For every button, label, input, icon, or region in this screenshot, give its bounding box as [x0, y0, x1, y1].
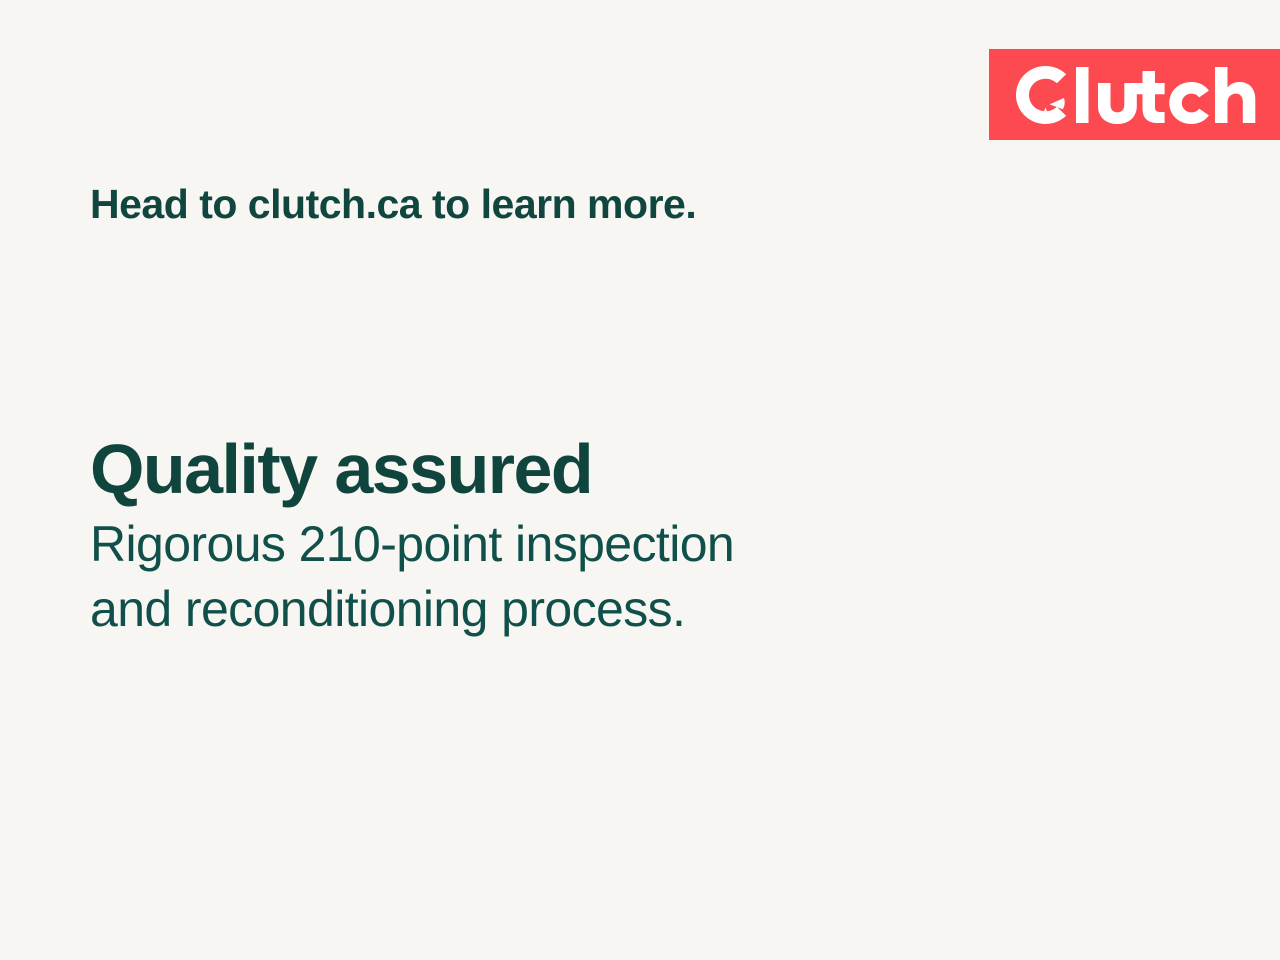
clutch-c-mark-icon [1016, 66, 1066, 124]
subhead-line-1: Rigorous 210-point inspection [90, 512, 1050, 577]
subhead-line-2: and reconditioning process. [90, 577, 1050, 642]
brand-banner: clutch [989, 49, 1280, 140]
kicker-text: Head to clutch.ca to learn more. [90, 182, 696, 228]
copy-block: Quality assured Rigorous 210-point inspe… [90, 432, 1050, 642]
headline: Quality assured [90, 432, 1050, 508]
clutch-wordmark-glyphs [1076, 67, 1255, 124]
marketing-slide: clutch Head to clutch.ca to learn more. … [0, 0, 1280, 960]
clutch-logo: clutch [1016, 49, 1280, 140]
subhead: Rigorous 210-point inspection and recond… [90, 512, 1050, 642]
